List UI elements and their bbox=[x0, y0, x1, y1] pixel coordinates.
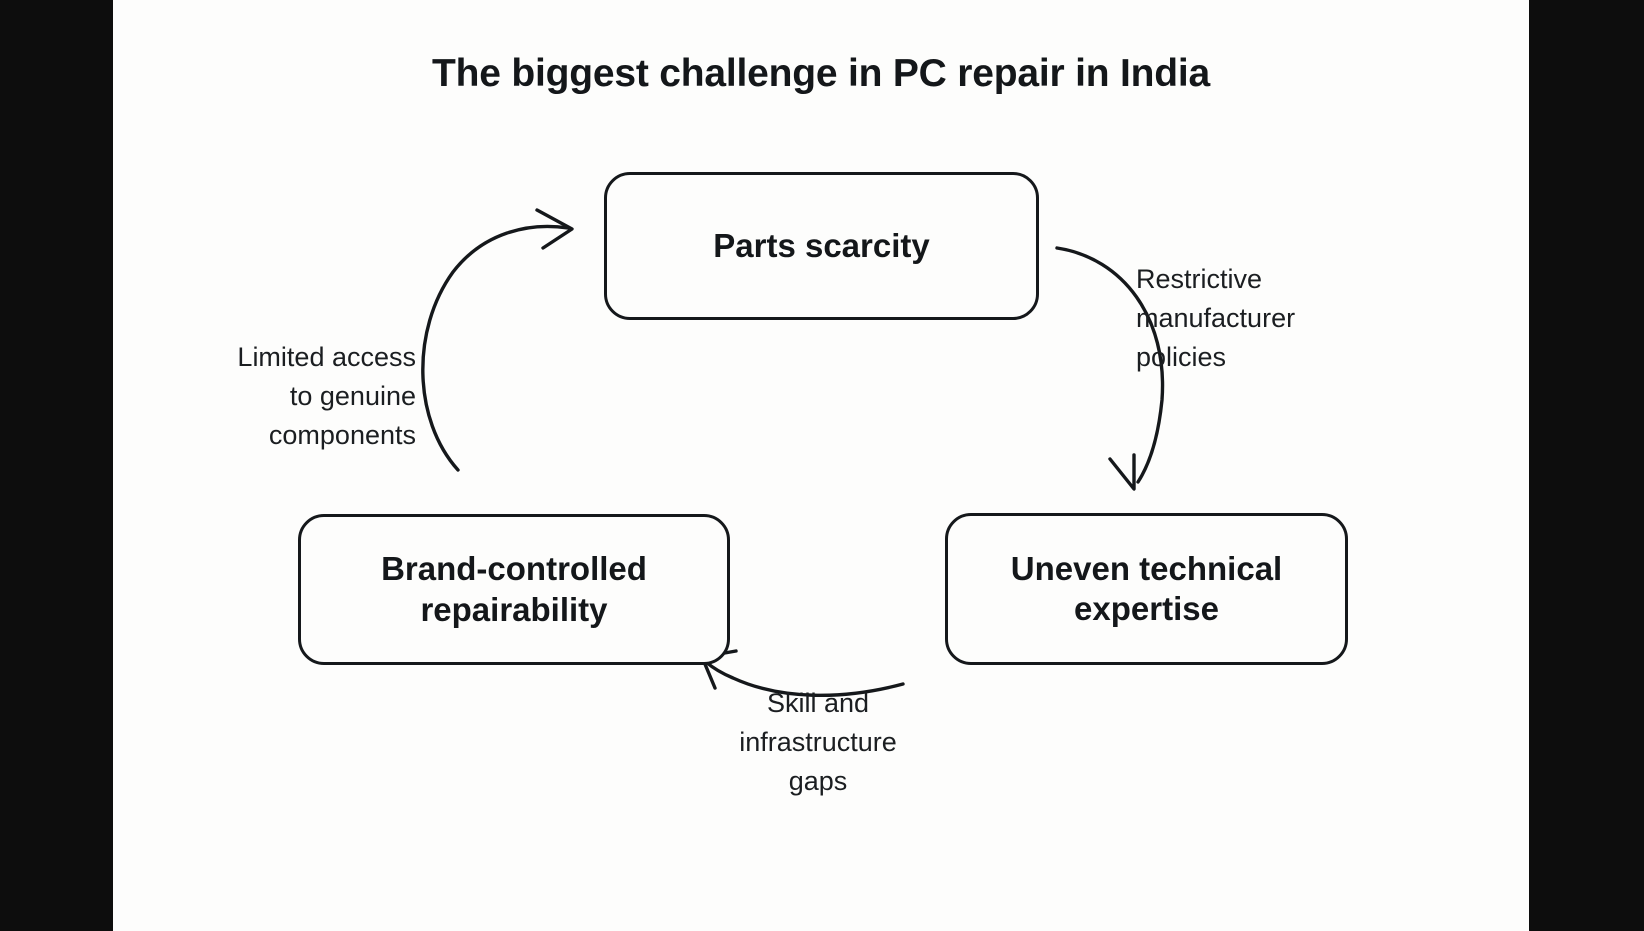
node-brand-controlled-repairability-label: Brand-controlled repairability bbox=[315, 549, 713, 630]
node-uneven-technical-expertise-label: Uneven technical expertise bbox=[962, 549, 1331, 630]
node-brand-controlled-repairability[interactable]: Brand-controlled repairability bbox=[298, 514, 730, 665]
edge-label-brand-to-parts: Limited access to genuine components bbox=[123, 338, 416, 455]
page-title: The biggest challenge in PC repair in In… bbox=[113, 52, 1529, 96]
edge-brand-to-parts bbox=[423, 210, 572, 470]
edge-label-parts-to-uneven: Restrictive manufacturer policies bbox=[1136, 260, 1426, 377]
node-parts-scarcity-label: Parts scarcity bbox=[713, 226, 929, 266]
node-parts-scarcity[interactable]: Parts scarcity bbox=[604, 172, 1039, 320]
node-uneven-technical-expertise[interactable]: Uneven technical expertise bbox=[945, 513, 1348, 665]
slide-stage: The biggest challenge in PC repair in In… bbox=[0, 0, 1644, 931]
edge-label-uneven-to-brand: Skill and infrastructure gaps bbox=[673, 684, 963, 801]
slide-canvas: The biggest challenge in PC repair in In… bbox=[113, 0, 1529, 931]
